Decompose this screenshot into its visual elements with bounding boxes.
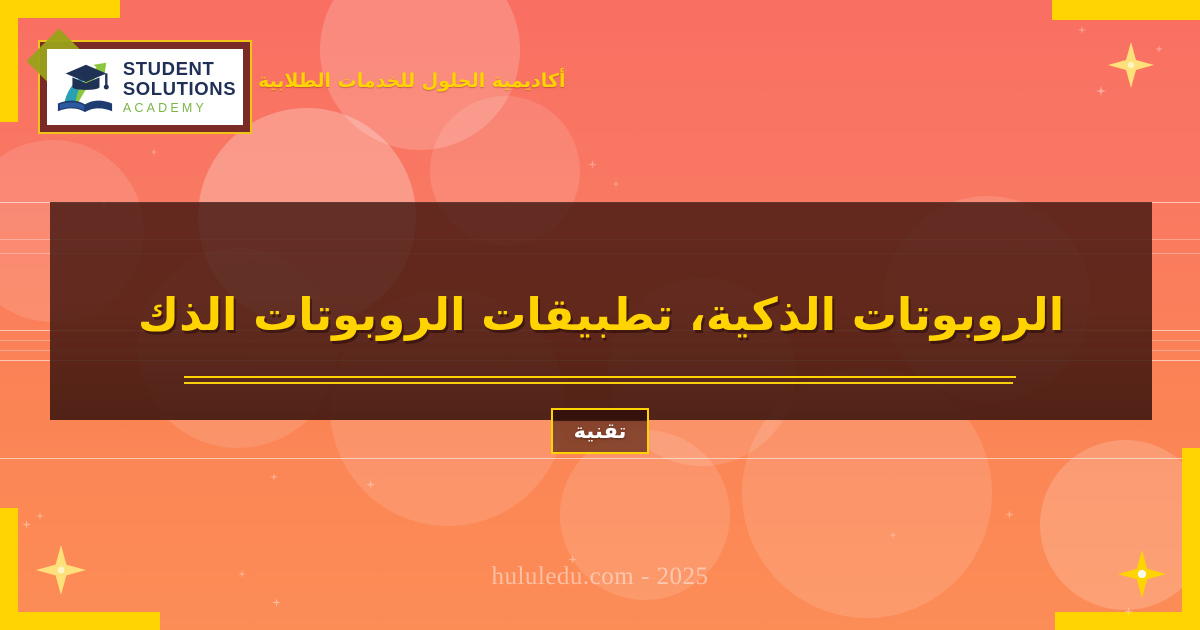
footer-attribution: hululedu.com - 2025 xyxy=(0,563,1200,591)
logo-word-academy: ACADEMY xyxy=(123,102,236,115)
logo-word-student: STUDENT xyxy=(123,60,236,79)
sparkle-dust-icon xyxy=(1155,45,1163,53)
sparkle-dust-icon xyxy=(150,148,158,156)
sparkle-dust-icon xyxy=(588,160,597,169)
brand-logo-frame[interactable]: STUDENT SOLUTIONS ACADEMY xyxy=(38,40,252,134)
sparkle-dust-icon xyxy=(1005,510,1014,519)
sparkle-dust-icon xyxy=(1124,607,1133,616)
sparkle-dust-icon xyxy=(366,480,375,489)
brand-logo: STUDENT SOLUTIONS ACADEMY xyxy=(47,49,243,125)
category-badge[interactable]: تقنية xyxy=(551,408,649,454)
page-title: الروبوتات الذكية، تطبيقات الروبوتات الذك xyxy=(50,288,1152,342)
sparkle-dust-icon xyxy=(272,598,281,607)
brand-arabic-name: أكاديمية الحلول للخدمات الطلابية xyxy=(258,70,565,92)
social-share-card: الروبوتات الذكية، تطبيقات الروبوتات الذك… xyxy=(0,0,1200,630)
graduation-cap-book-icon xyxy=(54,57,116,117)
corner-bracket-top-right xyxy=(1052,0,1200,20)
title-divider xyxy=(184,376,1016,384)
divider-line-bottom xyxy=(184,382,1013,384)
sparkle-dust-icon xyxy=(1078,26,1086,34)
divider-line-top xyxy=(184,376,1016,378)
sparkle-dust-icon xyxy=(270,473,278,481)
sparkle-dust-icon xyxy=(1096,86,1106,96)
logo-word-solutions: SOLUTIONS xyxy=(123,80,236,99)
sparkle-star-icon xyxy=(1108,42,1154,88)
sparkle-dust-icon xyxy=(22,520,31,529)
sparkle-dust-icon xyxy=(889,531,897,539)
category-badge-label: تقنية xyxy=(574,421,627,442)
brand-logo-wordmark: STUDENT SOLUTIONS ACADEMY xyxy=(123,60,236,115)
corner-bracket-bottom-right xyxy=(1055,448,1200,630)
sparkle-dust-icon xyxy=(612,180,620,188)
hero-panel: الروبوتات الذكية، تطبيقات الروبوتات الذك xyxy=(50,202,1152,420)
sparkle-dust-icon xyxy=(36,512,44,520)
